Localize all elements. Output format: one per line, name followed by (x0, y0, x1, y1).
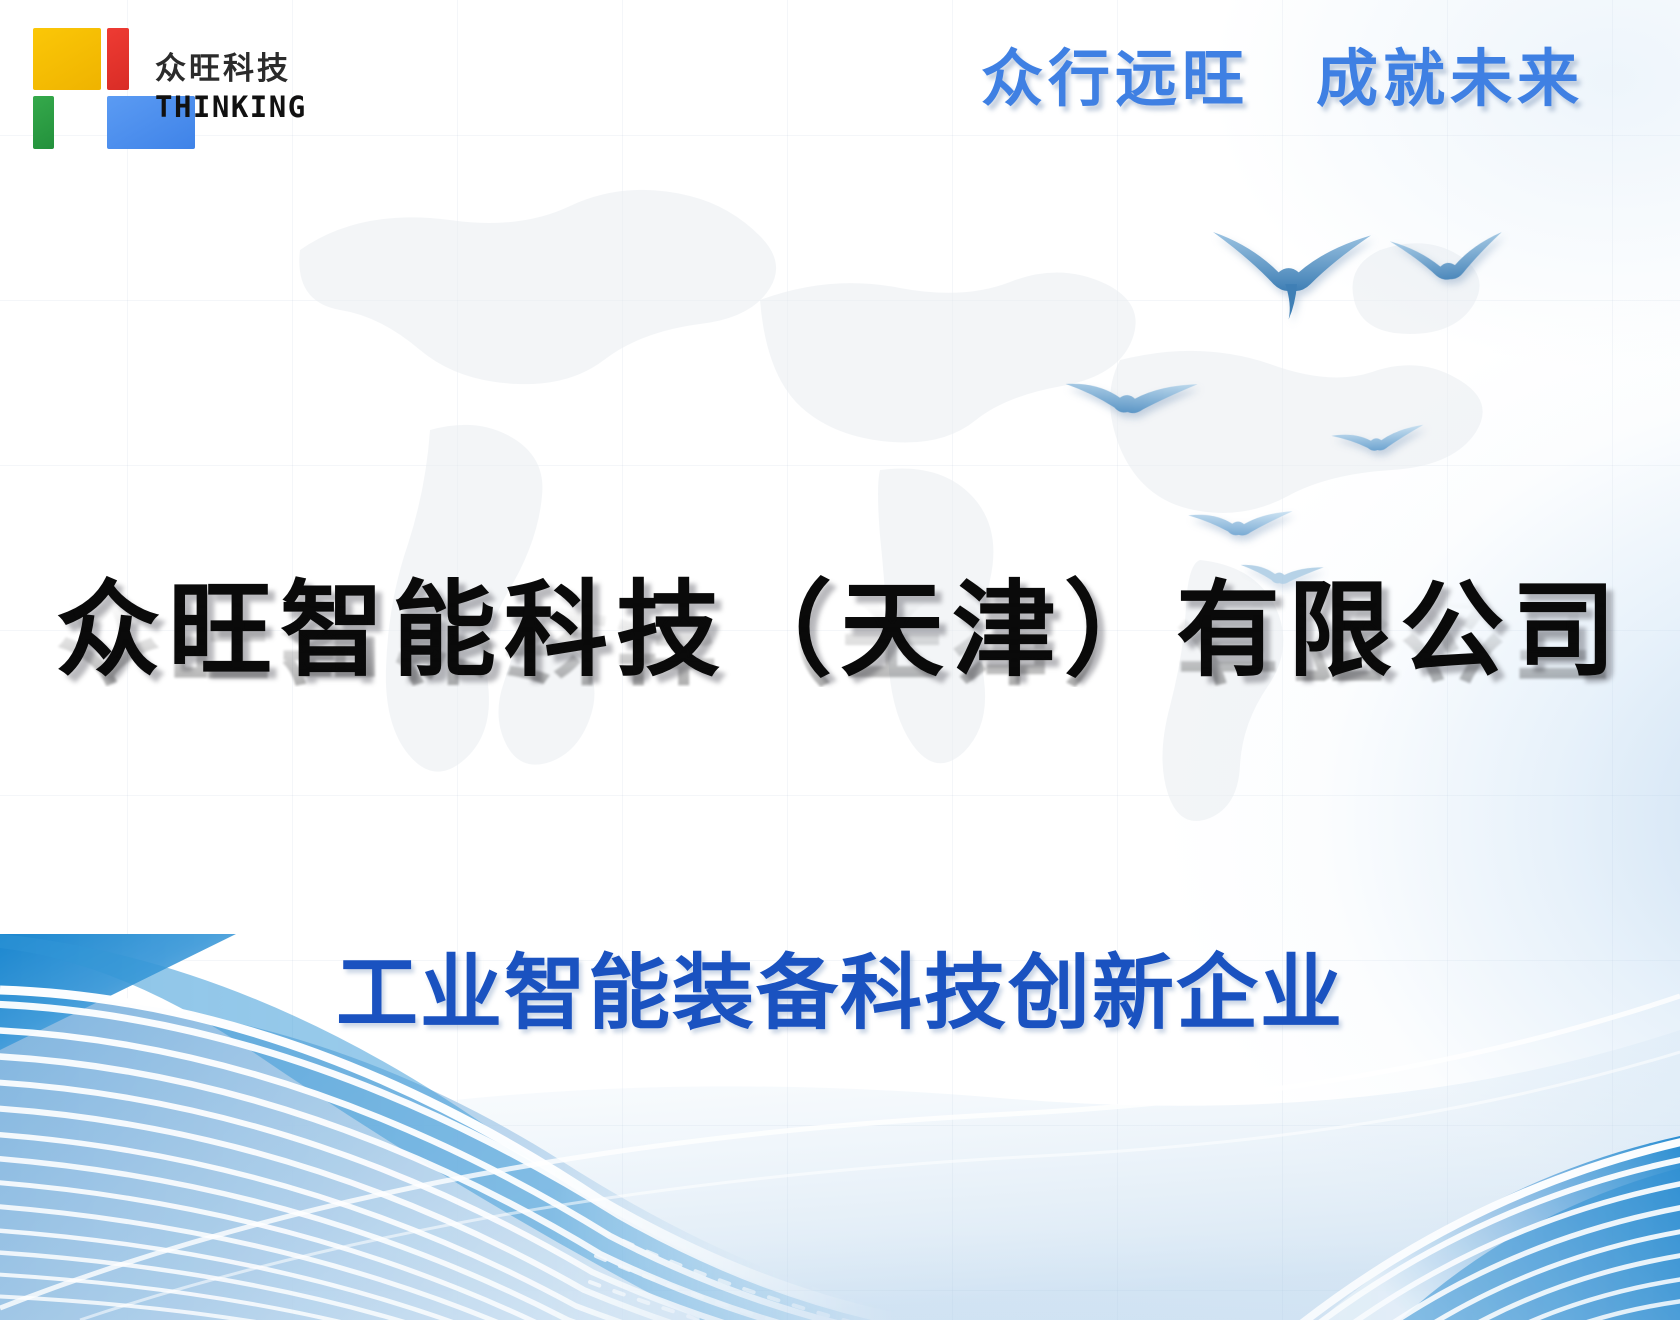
four-square-logo-mark (33, 28, 129, 143)
slide-header: 众旺科技 THINKING 众行远旺 成就未来 (0, 0, 1680, 190)
logo-wordmark: 众旺科技 THINKING (155, 50, 307, 122)
header-tagline: 众行远旺 成就未来 (981, 48, 1584, 110)
seagull-icon (1185, 498, 1295, 556)
logo-english-name: THINKING (155, 93, 307, 122)
logo-swatch-yellow (33, 28, 101, 90)
seagull-icon (1329, 416, 1427, 471)
page-title: 众旺智能科技（天津）有限公司 (0, 575, 1680, 685)
seagull-icon (1060, 361, 1203, 440)
logo-chinese-name: 众旺科技 (155, 54, 307, 85)
logo-swatch-green (33, 96, 54, 149)
company-logo[interactable]: 众旺科技 THINKING (33, 28, 307, 143)
title-group: 众旺智能科技（天津）有限公司 众旺智能科技（天津）有限公司 (0, 575, 1680, 797)
blue-ribbon-wave (0, 900, 1680, 1320)
seagull-icon (1208, 222, 1376, 326)
title-slide: 众旺科技 THINKING 众行远旺 成就未来 众旺智能科技（天津）有限公司 众… (0, 0, 1680, 1320)
seagull-icon (1384, 222, 1513, 312)
logo-swatch-red (107, 28, 129, 90)
